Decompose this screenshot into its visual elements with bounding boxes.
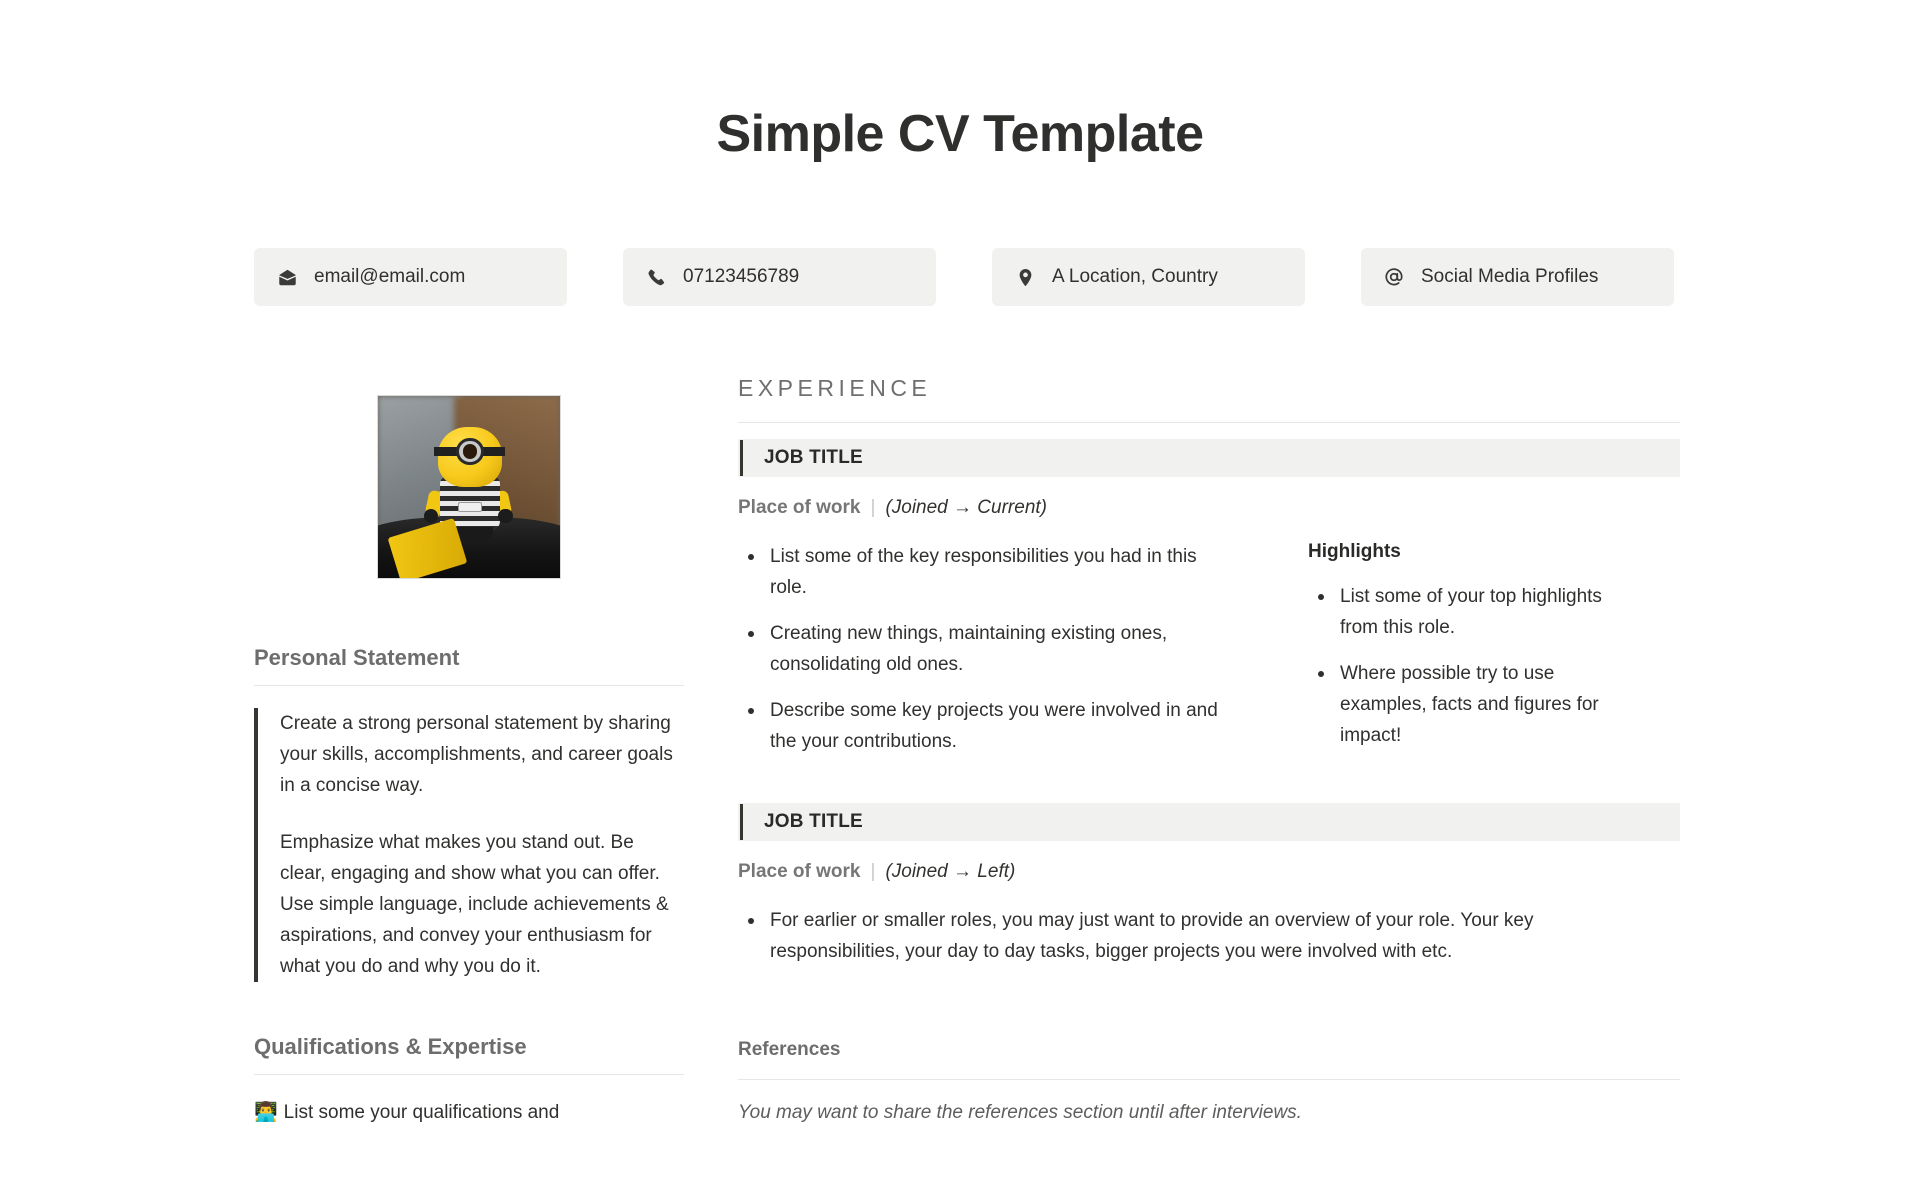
- experience-section-title: EXPERIENCE: [738, 375, 1680, 402]
- qualifications-heading: Qualifications & Expertise: [254, 1034, 684, 1060]
- job-meta-1: Place of work | (Joined → Current): [738, 497, 1680, 519]
- experience-column: EXPERIENCE JOB TITLE Place of work | (Jo…: [738, 375, 1680, 1124]
- list-item: Describe some key projects you were invo…: [738, 695, 1238, 757]
- contact-pill-social[interactable]: Social Media Profiles: [1361, 248, 1674, 306]
- contact-value-location: A Location, Country: [1052, 266, 1218, 288]
- cv-body: Personal Statement Create a strong perso…: [254, 375, 1680, 1199]
- list-item: For earlier or smaller roles, you may ju…: [738, 905, 1658, 967]
- profile-photo-wrapper: [254, 375, 684, 579]
- responsibilities-list-1: List some of the key responsibilities yo…: [738, 541, 1238, 757]
- job-separator-1: |: [871, 497, 876, 519]
- job-title-2: JOB TITLE: [764, 811, 863, 833]
- personal-statement-heading: Personal Statement: [254, 645, 684, 671]
- contact-pill-row: email@email.com 07123456789 A Location, …: [254, 248, 1674, 306]
- job-highlights-1: Highlights List some of your top highlig…: [1308, 541, 1618, 757]
- job-dates-1: (Joined → Current): [885, 497, 1047, 519]
- map-pin-icon: [1014, 266, 1036, 288]
- responsibilities-list-2: For earlier or smaller roles, you may ju…: [738, 905, 1658, 967]
- personal-statement-paragraph-2: Emphasize what makes you stand out. Be c…: [280, 827, 684, 982]
- job-place-2: Place of work: [738, 861, 861, 883]
- contact-pill-phone[interactable]: 07123456789: [623, 248, 936, 306]
- sidebar-divider-1: [254, 685, 684, 686]
- contact-value-social: Social Media Profiles: [1421, 266, 1598, 288]
- list-item: Where possible try to use examples, fact…: [1308, 658, 1618, 751]
- job-place-1: Place of work: [738, 497, 861, 519]
- personal-statement-blockquote: Create a strong personal statement by sh…: [254, 708, 684, 982]
- list-item: Creating new things, maintaining existin…: [738, 618, 1238, 680]
- job-entry-2: JOB TITLE Place of work | (Joined → Left…: [738, 803, 1680, 967]
- job-title-bar-2: JOB TITLE: [738, 803, 1680, 841]
- job-dates-2: (Joined → Left): [885, 861, 1015, 883]
- job-title-bar-1: JOB TITLE: [738, 439, 1680, 477]
- profile-photo: [377, 395, 561, 579]
- references-text: You may want to share the references sec…: [738, 1102, 1680, 1124]
- page-title: Simple CV Template: [0, 104, 1920, 164]
- technologist-emoji-icon: 👨‍💻: [254, 1102, 278, 1123]
- references-heading: References: [738, 1039, 1680, 1061]
- cv-document-page: Simple CV Template email@email.com 07123…: [0, 0, 1920, 1199]
- sidebar-column: Personal Statement Create a strong perso…: [254, 375, 684, 1128]
- job-meta-2: Place of work | (Joined → Left): [738, 861, 1680, 883]
- highlights-list-1: List some of your top highlights from th…: [1308, 581, 1618, 751]
- list-item: List some of the key responsibilities yo…: [738, 541, 1238, 603]
- contact-pill-location[interactable]: A Location, Country: [992, 248, 1305, 306]
- highlights-label-1: Highlights: [1308, 541, 1618, 563]
- job-entry-1: JOB TITLE Place of work | (Joined → Curr…: [738, 439, 1680, 757]
- references-divider: [738, 1079, 1680, 1080]
- qualifications-first-line: 👨‍💻List some your qualifications and: [254, 1097, 684, 1128]
- references-section: References You may want to share the ref…: [738, 1039, 1680, 1124]
- at-sign-icon: [1383, 266, 1405, 288]
- job-responsibilities-1: List some of the key responsibilities yo…: [738, 541, 1238, 757]
- job-separator-2: |: [871, 861, 876, 883]
- contact-value-phone: 07123456789: [683, 266, 799, 288]
- sidebar-divider-2: [254, 1074, 684, 1075]
- contact-value-email: email@email.com: [314, 266, 465, 288]
- job-title-1: JOB TITLE: [764, 447, 863, 469]
- qualifications-text: List some your qualifications and: [284, 1102, 560, 1123]
- phone-icon: [645, 266, 667, 288]
- personal-statement-paragraph-1: Create a strong personal statement by sh…: [280, 708, 684, 801]
- experience-divider: [738, 422, 1680, 423]
- list-item: List some of your top highlights from th…: [1308, 581, 1618, 643]
- contact-pill-email[interactable]: email@email.com: [254, 248, 567, 306]
- job-content-columns-1: List some of the key responsibilities yo…: [738, 541, 1680, 757]
- envelope-icon: [276, 266, 298, 288]
